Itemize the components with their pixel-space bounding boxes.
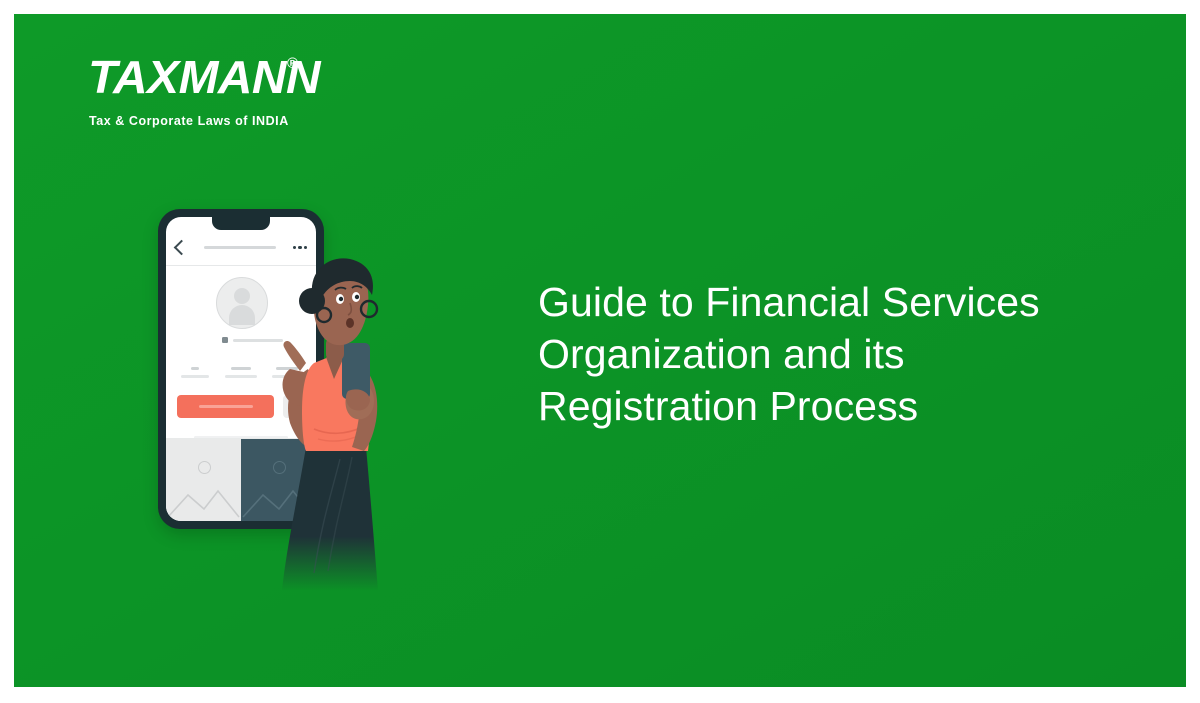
stat-block [178,367,212,378]
sun-icon [198,461,211,474]
topbar-title-placeholder [204,246,276,249]
taxmann-logo: TAXMANN ® Tax & Corporate Laws of INDIA [76,52,376,152]
cta-label-placeholder [199,405,253,408]
primary-cta-button[interactable] [177,395,274,418]
image-placeholder-light[interactable] [166,439,241,521]
avatar-head-shape [234,288,250,304]
logo-tagline: Tax & Corporate Laws of INDIA [89,114,289,128]
user-avatar-icon [216,277,268,329]
mountain-icon [166,475,241,521]
hero-illustration [124,189,484,619]
more-options-icon[interactable] [293,246,307,249]
woman-character [270,251,420,606]
stat-block [224,367,258,378]
banner-canvas: TAXMANN ® Tax & Corporate Laws of INDIA … [14,14,1186,687]
phone-notch [212,217,270,230]
character-pupil [355,295,359,299]
character-pupil [339,297,343,301]
pointing-finger [283,341,306,371]
avatar-body-shape [229,305,255,325]
page-title: Guide to Financial Services Organization… [538,276,1078,432]
chevron-left-icon[interactable] [174,240,190,256]
character-mouth [346,318,354,328]
logo-wordmark: TAXMANN [88,52,320,102]
character-skirt [282,447,378,591]
registered-trademark-icon: ® [287,56,298,71]
status-dot-icon [222,337,228,343]
character-hair-bun [299,288,325,314]
